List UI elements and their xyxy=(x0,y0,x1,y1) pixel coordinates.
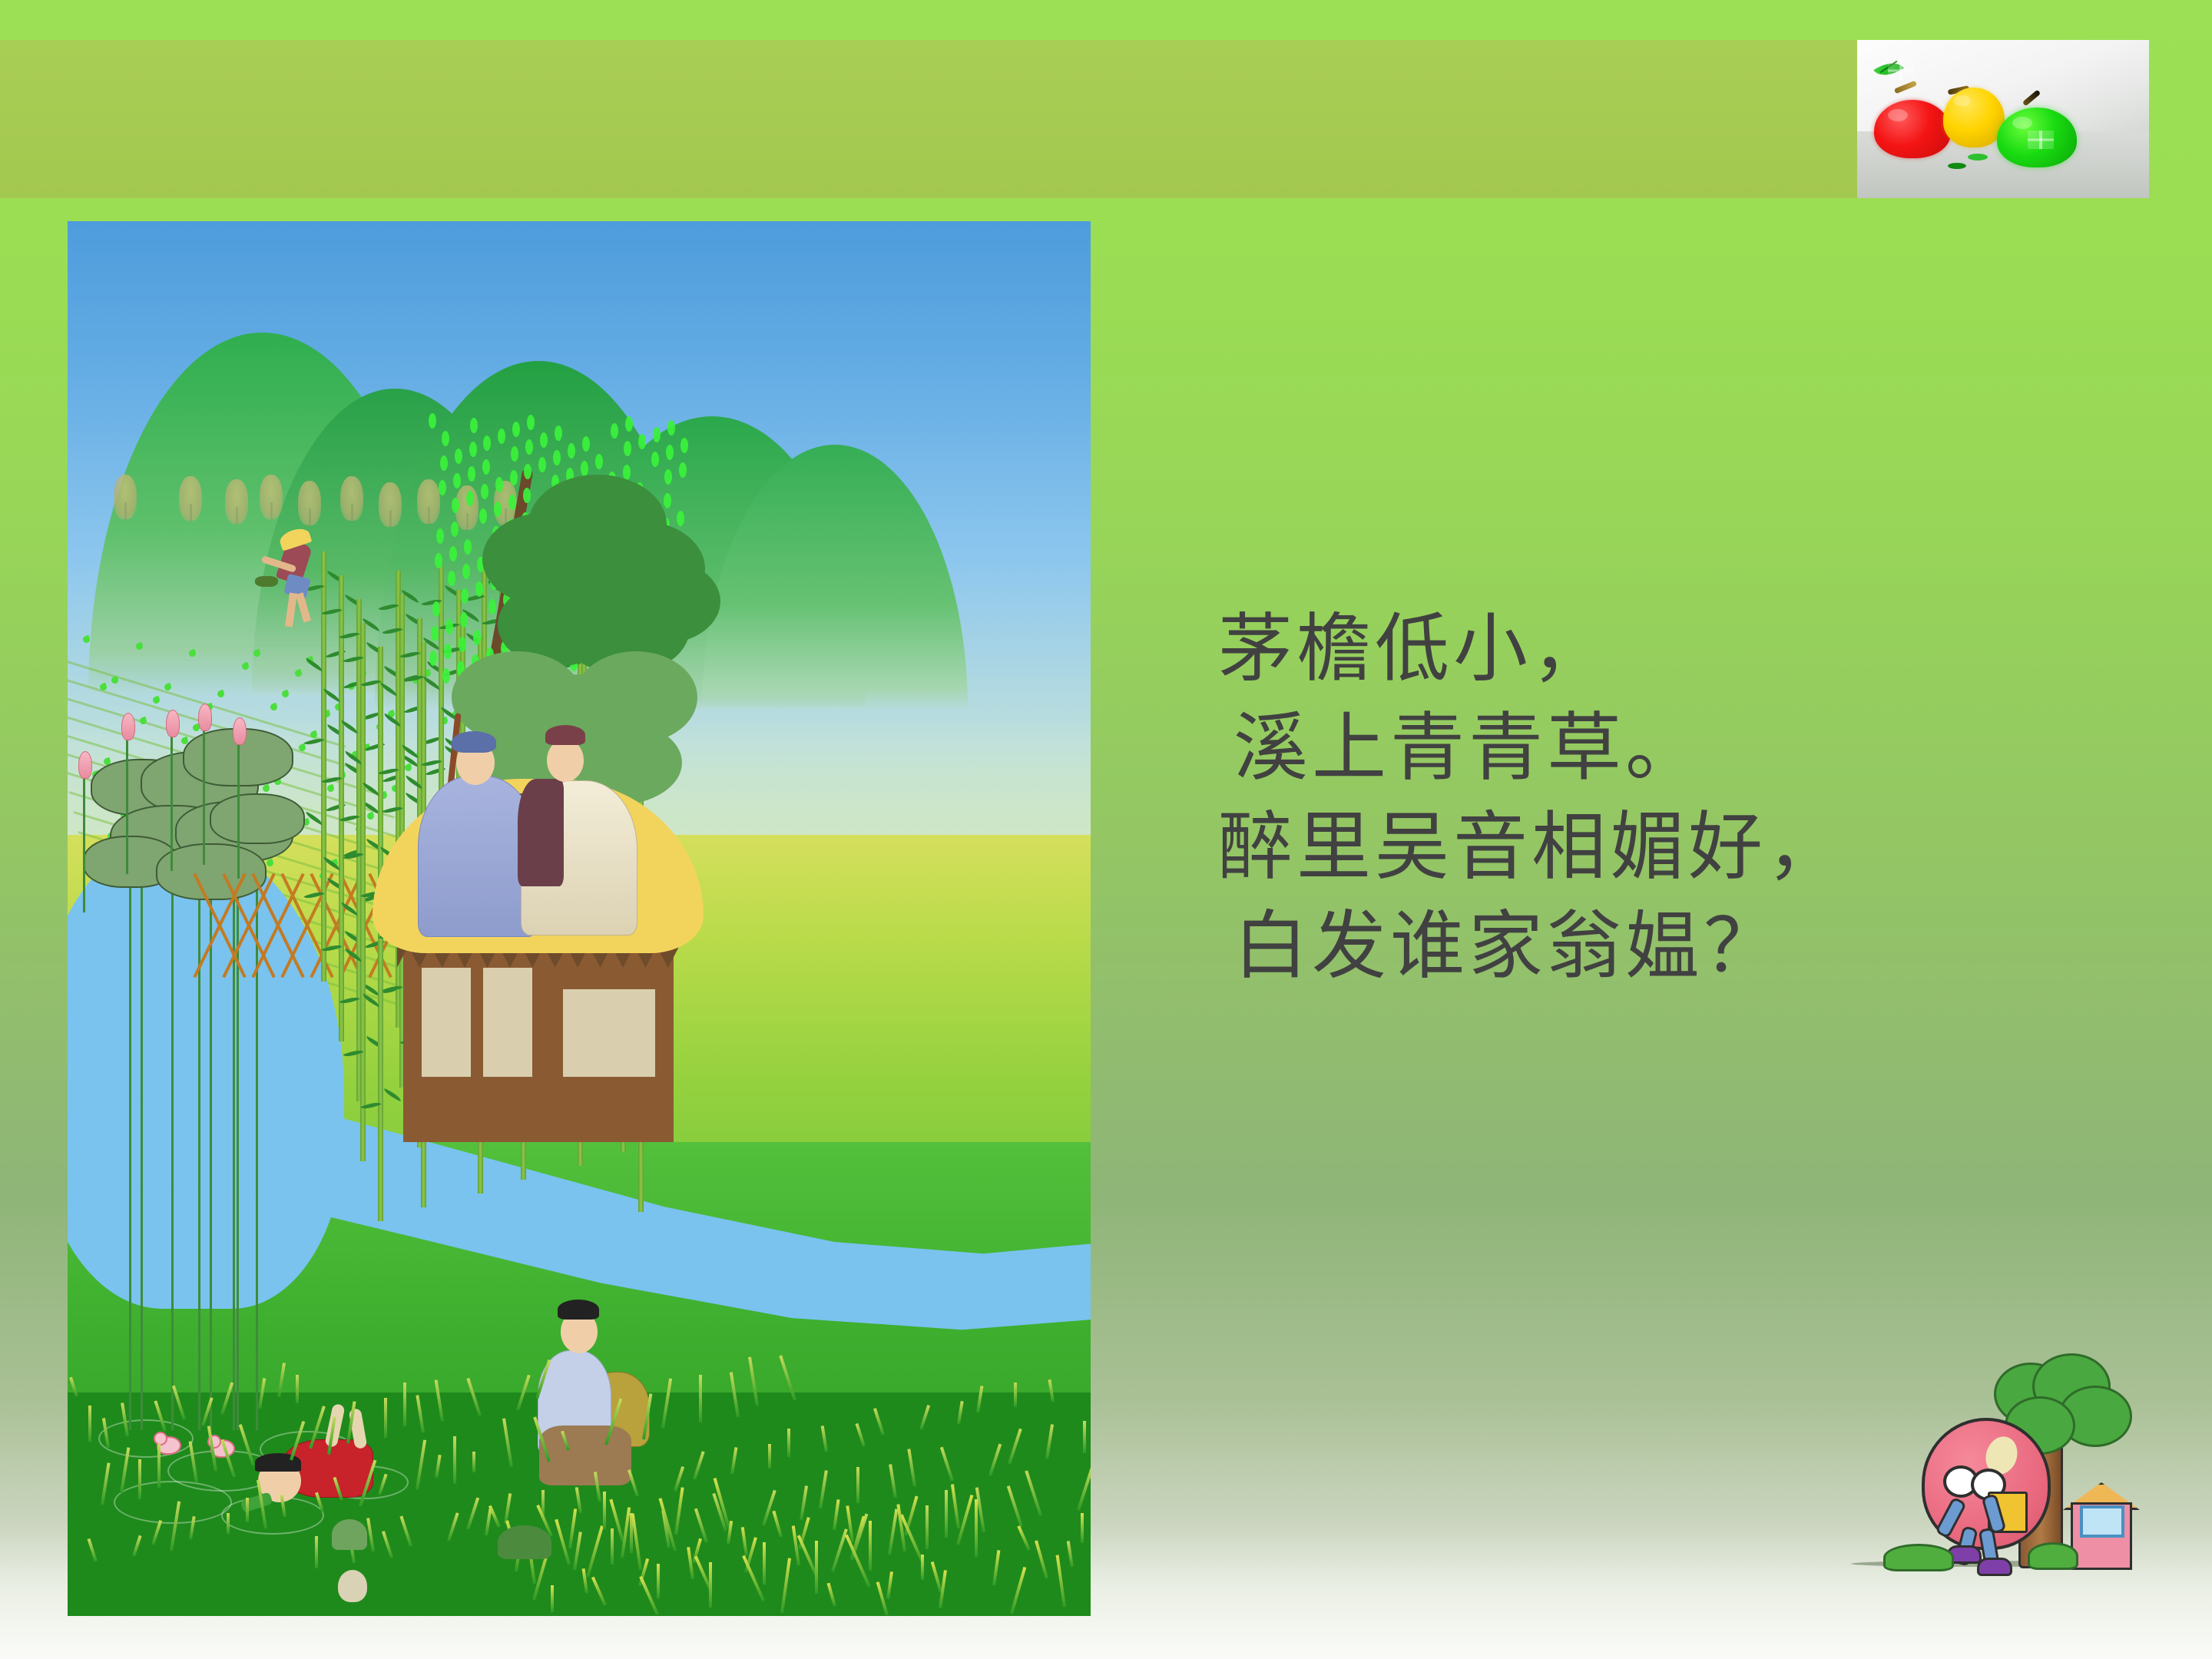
willow-leaf xyxy=(525,439,533,455)
lotus-leaf xyxy=(210,793,305,844)
youngest-son-hair xyxy=(255,1453,301,1472)
reed-grass xyxy=(869,1521,872,1571)
willow-leaf xyxy=(512,422,520,437)
poem-line-2: 溪上青青草。 xyxy=(1218,698,2109,797)
willow-leaf xyxy=(470,418,478,433)
water-ripple xyxy=(98,1419,194,1458)
grass-tuft xyxy=(787,1429,790,1457)
willow-leaf xyxy=(680,438,688,453)
willow-leaf xyxy=(436,528,444,544)
willow-leaf xyxy=(462,564,470,579)
willow-leaf xyxy=(508,495,516,510)
willow-leaf xyxy=(511,446,518,462)
willow-leaf xyxy=(444,644,452,659)
hut-wall-panel xyxy=(563,989,655,1076)
willow-leaf xyxy=(638,434,646,449)
grass-tuft xyxy=(856,1467,859,1503)
grass-tuft xyxy=(246,1498,249,1522)
lotus-stem xyxy=(83,774,85,912)
lotus-stem xyxy=(171,733,173,871)
water-ripple xyxy=(114,1481,232,1524)
red-apple-stem xyxy=(1894,81,1917,94)
willow-leaf xyxy=(582,436,590,452)
river-rock xyxy=(338,1570,367,1602)
reed-grass xyxy=(709,1562,712,1608)
willow-leaf xyxy=(540,432,548,448)
lotus-flower-bud xyxy=(198,704,212,731)
willow-leaf xyxy=(459,637,466,652)
willow-leaf xyxy=(651,452,659,467)
willow-leaf xyxy=(432,601,440,617)
grass-tuft xyxy=(699,1375,702,1422)
lotus-stem xyxy=(233,855,235,1430)
lotus-stem xyxy=(237,740,240,879)
willow-leaf xyxy=(568,443,575,459)
poem-line-1: 茅檐低小， xyxy=(1218,599,2109,698)
grass-tuft xyxy=(227,1513,230,1534)
lotus-stem xyxy=(171,863,174,1430)
grass-tuft xyxy=(926,1505,929,1549)
willow-leaf xyxy=(527,415,535,430)
willow-leaf xyxy=(452,498,459,513)
willow-leaf xyxy=(624,441,631,456)
willow-leaf xyxy=(449,546,457,561)
poem-text-block: 茅檐低小， 溪上青青草。 醉里吴音相媚好， 白发谁家翁媪？ xyxy=(1218,599,2109,995)
willow-leaf xyxy=(442,431,449,446)
willow-leaf xyxy=(553,450,561,465)
village-scene-painting xyxy=(68,221,1091,1616)
old-woman-head xyxy=(547,739,584,782)
grass-tuft xyxy=(157,1444,161,1488)
lotus-flower-bud xyxy=(233,717,247,745)
willow-leaf xyxy=(653,427,661,442)
apple-character-with-glasses xyxy=(1836,1352,2143,1598)
willow-leaf xyxy=(442,668,450,684)
willow-leaf xyxy=(667,420,675,435)
willow-leaf xyxy=(625,416,633,432)
willow-leaf xyxy=(666,445,674,460)
red-apple-reflection xyxy=(1888,61,1914,80)
willow-leaf xyxy=(461,588,469,604)
willow-leaf xyxy=(466,491,474,506)
grass-tuft xyxy=(403,1382,406,1426)
willow-leaf xyxy=(455,449,462,464)
lotus-stem xyxy=(203,727,205,865)
reed-grass xyxy=(603,1492,606,1529)
yellow-glass-apple xyxy=(1943,88,2005,147)
willow-leaf xyxy=(479,508,487,524)
willow-leaf xyxy=(664,469,672,485)
lotus-stem xyxy=(126,736,128,874)
distant-tree xyxy=(114,475,137,519)
grass-tuft xyxy=(1083,1421,1086,1453)
grass-tuft xyxy=(611,1528,614,1565)
lotus-flower-bud xyxy=(121,713,135,740)
willow-leaf xyxy=(469,442,477,457)
reed-grass xyxy=(975,1499,978,1557)
willow-leaf xyxy=(448,571,455,586)
willow-leaf xyxy=(664,493,671,508)
reed-grass xyxy=(551,1585,554,1612)
willow-leaf xyxy=(451,522,459,537)
reed-grass xyxy=(921,1555,924,1580)
lotus-stem xyxy=(129,880,131,1430)
water-ripple xyxy=(221,1496,324,1535)
willow-leaf xyxy=(473,630,481,645)
green-apple-reflection xyxy=(2028,131,2054,149)
reed-grass xyxy=(815,1541,818,1594)
willow-leaf xyxy=(611,423,618,439)
willow-leaf xyxy=(475,581,483,597)
grass-tuft xyxy=(768,1444,771,1469)
lotus-flower-bud xyxy=(78,751,92,779)
grass-tuft xyxy=(945,1490,948,1538)
grass-tuft xyxy=(384,1398,387,1438)
bamboo-stalk xyxy=(339,575,344,1041)
grass-tuft xyxy=(472,1452,475,1472)
distant-tree xyxy=(225,479,248,524)
shrub xyxy=(332,1519,367,1550)
reed-grass xyxy=(763,1542,766,1584)
willow-leaf xyxy=(483,435,491,451)
willow-leaf xyxy=(429,413,436,429)
willow-leaf xyxy=(494,502,502,517)
bush xyxy=(2028,1542,2078,1570)
willow-leaf xyxy=(435,553,442,568)
grass-tuft xyxy=(296,1375,299,1403)
distant-tree xyxy=(340,476,363,521)
grass-tuft xyxy=(138,1459,141,1499)
willow-leaf xyxy=(523,488,531,503)
willow-leaf xyxy=(677,511,684,526)
distant-tree xyxy=(298,481,321,525)
hut-window xyxy=(483,968,532,1077)
house-window xyxy=(2080,1505,2124,1538)
willow-leaf xyxy=(595,454,603,469)
lotus-stem xyxy=(256,836,258,1430)
willow-leaf xyxy=(679,462,687,478)
green-apple-stem xyxy=(2022,89,2041,106)
shrub xyxy=(498,1525,551,1559)
decorative-top-band xyxy=(0,40,1857,198)
willow-leaf xyxy=(581,461,588,476)
willow-leaf xyxy=(445,619,453,634)
hut-window xyxy=(422,968,471,1077)
grass-tuft xyxy=(453,1436,456,1484)
willow-leaf xyxy=(460,612,468,628)
willow-leaf xyxy=(482,459,490,475)
willow-leaf xyxy=(555,426,562,441)
red-glass-apple xyxy=(1874,100,1951,158)
poem-line-3: 醉里吴音相媚好， xyxy=(1218,797,2109,896)
poem-line-4: 白发谁家翁媪？ xyxy=(1218,896,2109,995)
bamboo-stalk xyxy=(321,551,326,982)
lotus-flower-bud xyxy=(166,710,180,737)
willow-leaf xyxy=(429,651,437,666)
glass-chip xyxy=(1948,163,1966,169)
willow-leaf xyxy=(495,477,503,492)
grass-tuft xyxy=(1014,1382,1017,1407)
reed-grass xyxy=(1081,1513,1084,1543)
middle-son-hair xyxy=(558,1300,599,1320)
grass-tuft xyxy=(315,1536,318,1568)
distant-tree xyxy=(417,479,440,524)
reed-grass xyxy=(657,1564,660,1598)
slide-root: 茅檐低小， 溪上青青草。 醉里吴音相媚好， 白发谁家翁媪？ xyxy=(0,0,2212,1659)
old-woman-shawl xyxy=(518,779,564,886)
willow-leaf xyxy=(538,457,546,472)
willow-leaf xyxy=(440,455,448,471)
willow-leaf xyxy=(488,599,496,614)
lotus-stem xyxy=(210,892,212,1430)
old-woman-hairband xyxy=(545,725,585,745)
mascot-shoe-right xyxy=(1977,1558,2012,1576)
old-man-headwrap xyxy=(452,731,496,753)
willow-leaf xyxy=(481,484,488,499)
lotus-stem xyxy=(141,808,143,1430)
willow-leaf xyxy=(524,464,531,479)
glass-chip xyxy=(1968,154,1988,161)
distant-tree xyxy=(379,482,402,527)
willow-leaf xyxy=(431,626,439,641)
willow-leaf xyxy=(468,466,475,482)
willow-leaf xyxy=(498,429,505,444)
willow-leaf xyxy=(439,480,446,495)
distant-tree xyxy=(179,476,202,521)
middle-son-skirt xyxy=(539,1426,631,1485)
bamboo-stalk xyxy=(360,623,366,1161)
grass-tuft xyxy=(88,1406,91,1442)
bush xyxy=(1883,1544,1954,1571)
distant-tree xyxy=(260,475,283,519)
tree-foliage xyxy=(605,559,720,644)
willow-leaf xyxy=(453,473,461,488)
willow-leaf xyxy=(464,539,472,555)
hoe-head xyxy=(255,576,278,587)
glass-apples-photo xyxy=(1857,40,2149,198)
willow-leaf xyxy=(510,470,518,485)
